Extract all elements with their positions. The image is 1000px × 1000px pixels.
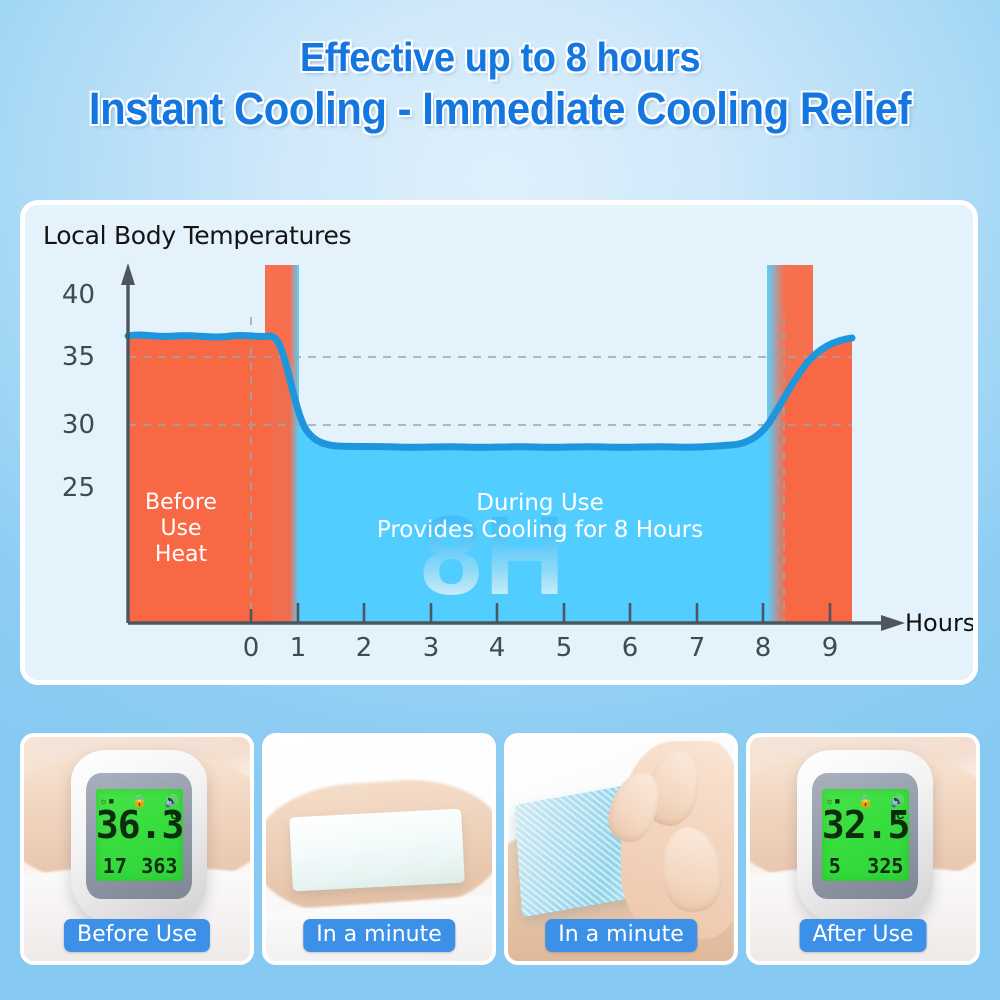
- photo-tile-row: ☼■ 🔒 🔊 36.3 °C 17 363 Before Use: [20, 733, 980, 965]
- thermometer-body: ☼■ 🔒 🔊 32.5 °C 5 325: [797, 750, 933, 925]
- x-tick-label-5: 5: [549, 633, 579, 663]
- seam-left: [265, 265, 299, 623]
- lcd-unit-label: °C: [166, 810, 178, 822]
- lcd-screen: ☼■ 🔒 🔊 32.5 °C 5 325: [822, 789, 909, 882]
- y-tick-label-40: 40: [47, 280, 95, 310]
- x-axis-title: Hours: [905, 609, 975, 637]
- y-axis-arrow: [121, 263, 135, 285]
- x-tick-label-3: 3: [416, 633, 446, 663]
- x-tick-label-8: 8: [748, 633, 778, 663]
- tile-caption-before-use: Before Use: [64, 919, 210, 952]
- headline-line-1: Effective up to 8 hours: [35, 36, 965, 79]
- thermometer-body: ☼■ 🔒 🔊 36.3 °C 17 363: [71, 750, 207, 925]
- x-tick-label-4: 4: [482, 633, 512, 663]
- x-tick-label-1: 1: [283, 633, 313, 663]
- tile-caption-after-use: After Use: [800, 919, 927, 952]
- lcd-memory-index: 5: [829, 854, 841, 878]
- y-tick-label-30: 30: [47, 410, 95, 440]
- x-tick-label-0: 0: [236, 633, 266, 663]
- lcd-memory-value: 325: [867, 854, 903, 878]
- tile-in-a-minute-patch[interactable]: In a minute: [262, 733, 496, 965]
- tile-caption-in-a-minute-1: In a minute: [303, 919, 455, 952]
- region-label-during-use: During Use Provides Cooling for 8 Hours: [285, 490, 795, 544]
- x-tick-label-9: 9: [815, 633, 845, 663]
- x-axis-arrow: [881, 615, 905, 631]
- cooling-patch-shape: [289, 809, 464, 892]
- tile-before-use[interactable]: ☼■ 🔒 🔊 36.3 °C 17 363 Before Use: [20, 733, 254, 965]
- lcd-unit-label: °C: [892, 810, 904, 822]
- region-label-before-use-line1: Before Use: [121, 490, 241, 542]
- region-label-during-use-line1: During Use: [285, 490, 795, 517]
- region-label-before-use: Before Use Heat: [121, 490, 241, 568]
- lcd-memory-index: 17: [103, 854, 127, 878]
- chart-panel: Local Body Temperatures: [20, 200, 978, 685]
- tile-caption-in-a-minute-2: In a minute: [545, 919, 697, 952]
- tile-in-a-minute-gel[interactable]: In a minute: [504, 733, 738, 965]
- region-label-before-use-line2: Heat: [121, 542, 241, 568]
- seam-right: [767, 265, 813, 623]
- y-tick-label-35: 35: [47, 342, 95, 372]
- lcd-memory-row: 5 325: [829, 854, 904, 878]
- tile-after-use[interactable]: ☼■ 🔒 🔊 32.5 °C 5 325 After Use: [746, 733, 980, 965]
- headline: Effective up to 8 hours Instant Cooling …: [0, 36, 1000, 133]
- x-tick-label-2: 2: [349, 633, 379, 663]
- x-tick-label-7: 7: [682, 633, 712, 663]
- region-label-during-use-line2: Provides Cooling for 8 Hours: [285, 517, 795, 544]
- x-tick-label-6: 6: [615, 633, 645, 663]
- lcd-memory-value: 363: [141, 854, 177, 878]
- headline-line-2: Instant Cooling - Immediate Cooling Reli…: [35, 85, 965, 133]
- lcd-screen: ☼■ 🔒 🔊 36.3 °C 17 363: [96, 789, 183, 882]
- lcd-memory-row: 17 363: [103, 854, 178, 878]
- y-tick-label-25: 25: [47, 473, 95, 503]
